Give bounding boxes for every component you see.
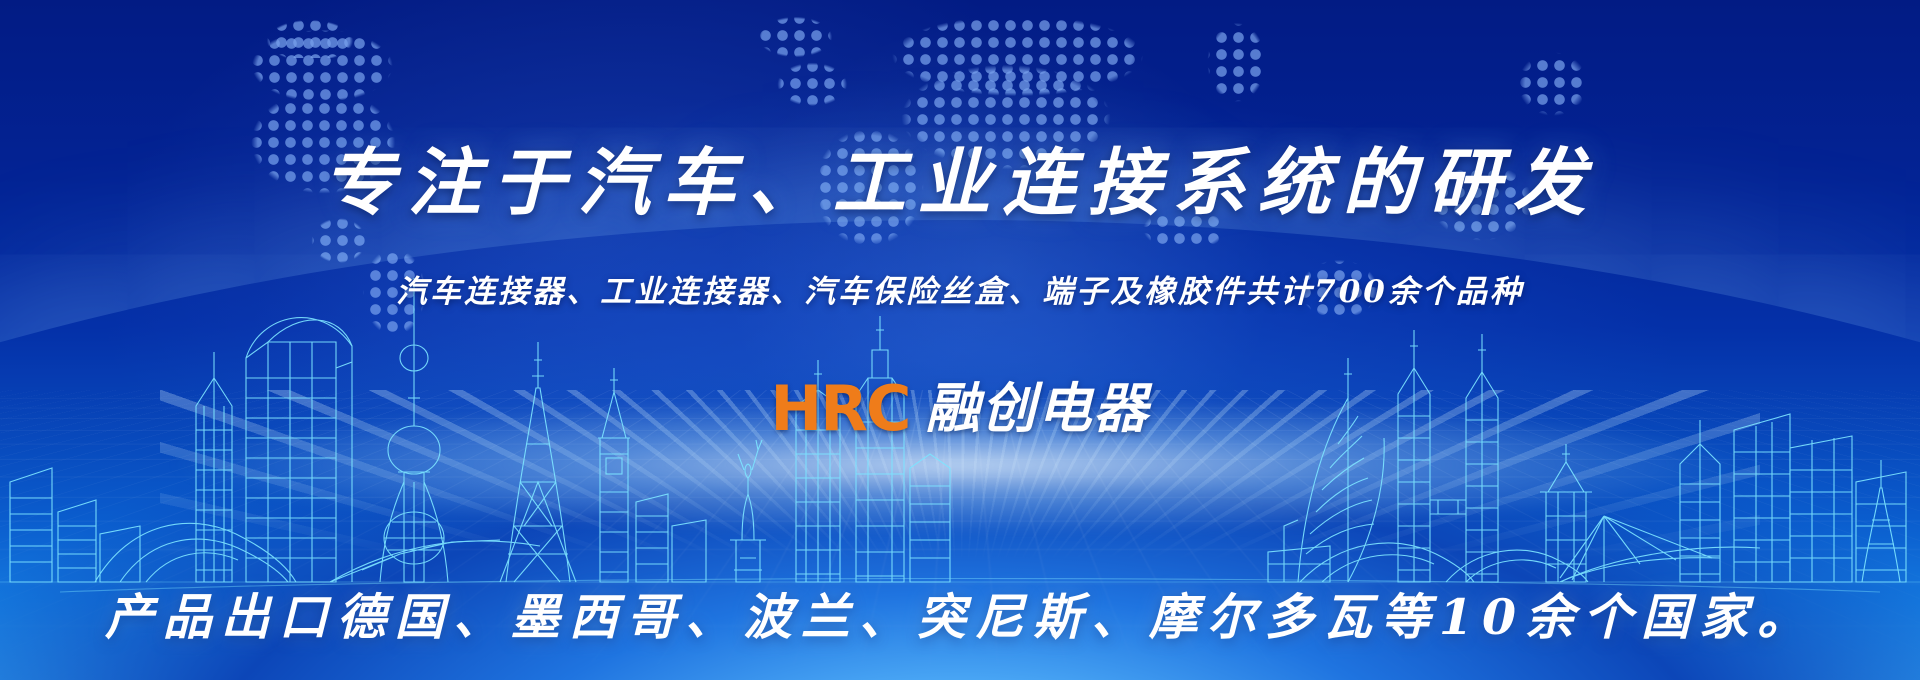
banner-subline: 汽车连接器、工业连接器、汽车保险丝盒、端子及橡胶件共计700余个品种 <box>0 266 1920 311</box>
logo-name-chinese: 融创电器 <box>926 382 1150 436</box>
hero-banner: 专注于汽车、工业连接系统的研发 汽车连接器、工业连接器、汽车保险丝盒、端子及橡胶… <box>0 0 1920 680</box>
banner-bottom-text: 产品出口德国、墨西哥、波兰、突尼斯、摩尔多瓦等10余个国家。 <box>0 578 1920 649</box>
company-logo: HRC 融创电器 <box>0 378 1920 440</box>
banner-headline: 专注于汽车、工业连接系统的研发 <box>0 124 1920 230</box>
logo-mark-hrc: HRC <box>770 378 909 440</box>
